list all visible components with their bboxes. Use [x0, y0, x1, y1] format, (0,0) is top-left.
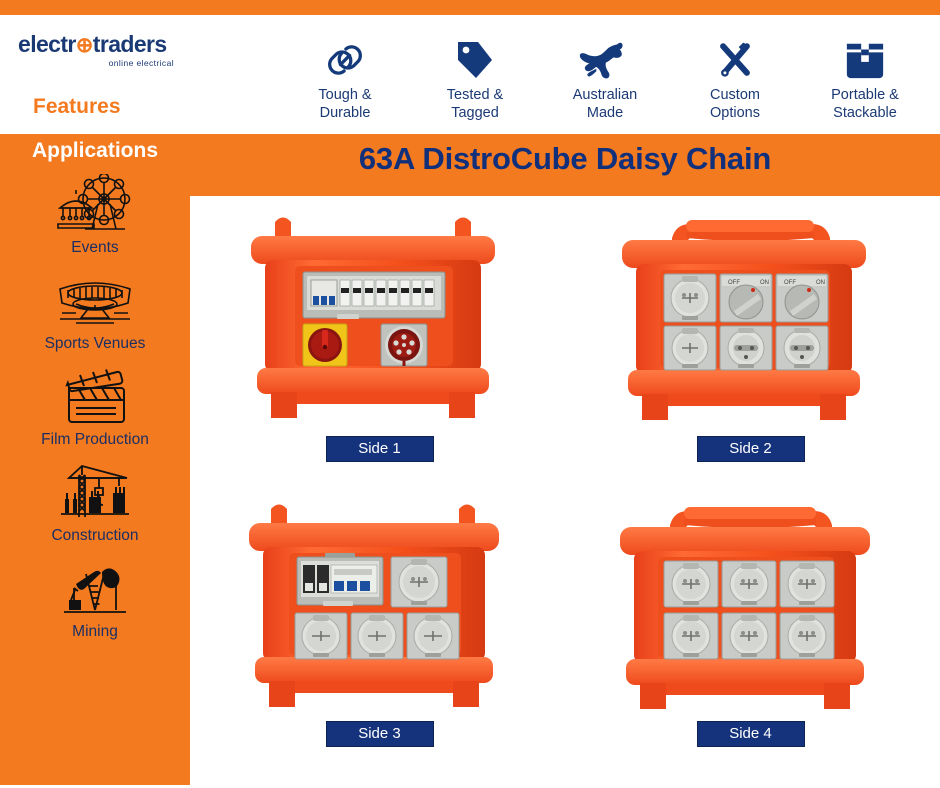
- sidebar-item-label: Events: [0, 239, 190, 257]
- socket-row-bottom: [295, 613, 459, 659]
- feature-portable-stackable: Portable & Stackable: [805, 37, 925, 122]
- rotary-switch-1: OFF ON: [720, 274, 772, 322]
- top-accent-bar: [0, 0, 940, 15]
- logo-text-pre: electr: [18, 31, 76, 57]
- distrocube-side1-image: [241, 210, 519, 432]
- ferris-wheel-icon: [0, 172, 190, 238]
- feature-label: Portable & Stackable: [805, 86, 925, 122]
- page-title: 63A DistroCube Daisy Chain: [190, 141, 940, 177]
- sidebar-item-label: Sports Venues: [0, 335, 190, 353]
- side-label: Side 4: [697, 721, 805, 747]
- feature-australian-made: Australian Made: [545, 37, 665, 122]
- lid-socket: [295, 613, 347, 659]
- lid-socket: [664, 274, 716, 322]
- lid-socket: [664, 613, 718, 659]
- distrocube-side3-image: [241, 495, 519, 717]
- applications-sidebar: Applications: [0, 134, 190, 785]
- three-pin-socket-1: [720, 326, 772, 370]
- distrocube-side4-image: [612, 495, 890, 717]
- open-box-icon: [805, 37, 925, 83]
- applications-heading: Applications: [0, 139, 190, 163]
- breaker-board: [303, 272, 445, 319]
- lid-socket-top-right: [391, 557, 447, 607]
- logo-tagline: online electrical: [18, 58, 178, 68]
- rotary-switch-2: OFF ON: [776, 274, 828, 322]
- svg-text:ON: ON: [816, 280, 825, 286]
- product-grid: Side 1: [194, 198, 936, 768]
- feature-label: Australian Made: [545, 86, 665, 122]
- feature-label: Tested & Tagged: [415, 86, 535, 122]
- sidebar-item-sports-venues[interactable]: Sports Venues: [0, 268, 190, 353]
- svg-text:OFF: OFF: [784, 280, 796, 286]
- product-cell-side1[interactable]: Side 1: [194, 198, 565, 483]
- lid-socket: [780, 613, 834, 659]
- sidebar-item-construction[interactable]: Construction: [0, 460, 190, 545]
- socket-row-top: OFF ON OFF ON: [664, 274, 828, 322]
- sidebar-item-mining[interactable]: Mining: [0, 556, 190, 641]
- logo-plug-icon: ⊕: [76, 34, 93, 57]
- stadium-icon: [0, 268, 190, 334]
- feature-label: Custom Options: [675, 86, 795, 122]
- kangaroo-icon: [545, 37, 665, 83]
- side-label: Side 3: [326, 721, 434, 747]
- socket-row-top: [664, 561, 834, 607]
- lid-socket: [722, 561, 776, 607]
- product-cell-side4[interactable]: Side 4: [565, 483, 936, 768]
- product-cell-side3[interactable]: Side 3: [194, 483, 565, 768]
- title-band: 63A DistroCube Daisy Chain: [190, 134, 940, 199]
- price-tag-icon: [415, 37, 535, 83]
- product-gallery-panel: Side 1: [190, 196, 940, 788]
- three-pin-socket-2: [776, 326, 828, 370]
- side-label: Side 2: [697, 436, 805, 462]
- features-heading: Features: [33, 95, 121, 119]
- side-label: Side 1: [326, 436, 434, 462]
- crane-icon: [0, 460, 190, 526]
- lid-socket: [664, 326, 716, 370]
- sidebar-item-label: Film Production: [0, 431, 190, 449]
- distrocube-side2-image: OFF ON OFF ON: [612, 210, 890, 432]
- features-strip: Tough & Durable Tested & Tagged: [285, 37, 925, 137]
- svg-text:ON: ON: [760, 280, 769, 286]
- feature-tested-tagged: Tested & Tagged: [415, 37, 535, 122]
- applications-list: Events: [0, 172, 190, 652]
- feature-tough-durable: Tough & Durable: [285, 37, 405, 122]
- breaker-board-small: [297, 553, 383, 606]
- sidebar-item-label: Construction: [0, 527, 190, 545]
- lid-socket: [780, 561, 834, 607]
- sidebar-item-label: Mining: [0, 623, 190, 641]
- feature-label: Tough & Durable: [285, 86, 405, 122]
- chain-link-icon: [285, 37, 405, 83]
- lid-socket: [722, 613, 776, 659]
- logo-wordmark: electr⊕traders: [18, 33, 178, 56]
- svg-text:OFF: OFF: [728, 280, 740, 286]
- tools-wrench-icon: [675, 37, 795, 83]
- product-cell-side2[interactable]: OFF ON OFF ON: [565, 198, 936, 483]
- lid-socket: [664, 561, 718, 607]
- poster-page: electr⊕traders online electrical Feature…: [0, 0, 940, 788]
- logo-text-post: traders: [93, 31, 167, 57]
- socket-row-bottom: [664, 613, 834, 659]
- page-header: electr⊕traders online electrical Feature…: [0, 15, 940, 134]
- brand-logo[interactable]: electr⊕traders online electrical: [18, 33, 178, 68]
- feature-custom-options: Custom Options: [675, 37, 795, 122]
- rotary-isolator-switch: [303, 324, 347, 366]
- lid-socket: [407, 613, 459, 659]
- lid-socket: [351, 613, 403, 659]
- oil-pumpjack-icon: [0, 556, 190, 622]
- sidebar-item-events[interactable]: Events: [0, 172, 190, 257]
- sidebar-item-film-production[interactable]: Film Production: [0, 364, 190, 449]
- socket-row-bottom: [664, 326, 828, 370]
- clapperboard-icon: [0, 364, 190, 430]
- five-pin-inlet: [381, 324, 427, 366]
